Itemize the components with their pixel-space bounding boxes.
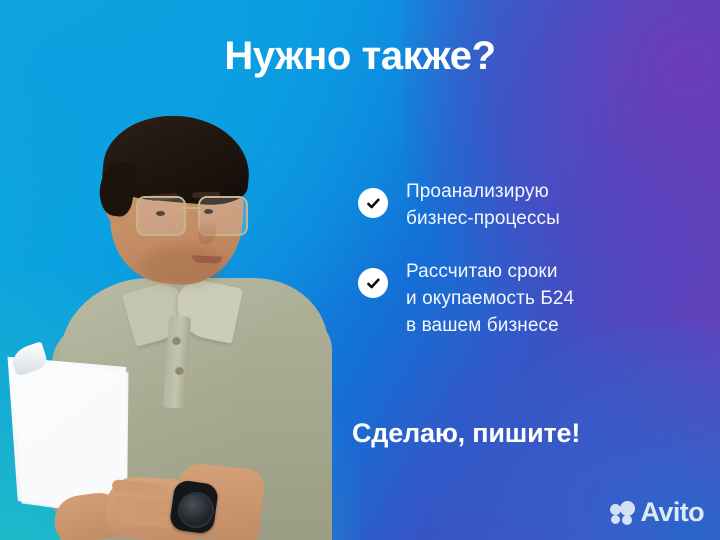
jaw-shadow [140,246,226,286]
avito-watermark: Avito [610,499,705,526]
list-item-label: Проанализирую бизнес-процессы [406,178,560,232]
list-item: Рассчитаю сроки и окупаемость Б24 в ваше… [358,258,678,339]
glasses-lens-left [136,196,186,236]
list-item-line: Проанализирую [406,178,560,205]
check-circle-icon [358,268,388,298]
page-title: Нужно также? [0,34,720,79]
benefits-list: Проанализирую бизнес-процессы Рассчитаю … [358,178,678,365]
list-item-line: Рассчитаю сроки [406,258,574,285]
shirt-button [175,366,184,375]
list-item-line: в вашем бизнесе [406,312,574,339]
avito-wordmark: Avito [641,499,705,526]
list-item-line: бизнес-процессы [406,205,560,232]
check-circle-icon [358,188,388,218]
shirt-button [172,336,181,345]
avito-dots-logo-icon [610,501,636,525]
list-item-label: Рассчитаю сроки и окупаемость Б24 в ваше… [406,258,574,339]
list-item-line: и окупаемость Б24 [406,285,574,312]
promo-banner: Нужно также? Проанализирую бизнес-процес… [0,0,720,540]
glasses-bridge [182,207,200,209]
eyeglasses [136,196,248,236]
call-to-action-text: Сделаю, пишите! [352,418,580,449]
nose [198,218,216,244]
list-item: Проанализирую бизнес-процессы [358,178,678,232]
person-photo [0,110,330,540]
